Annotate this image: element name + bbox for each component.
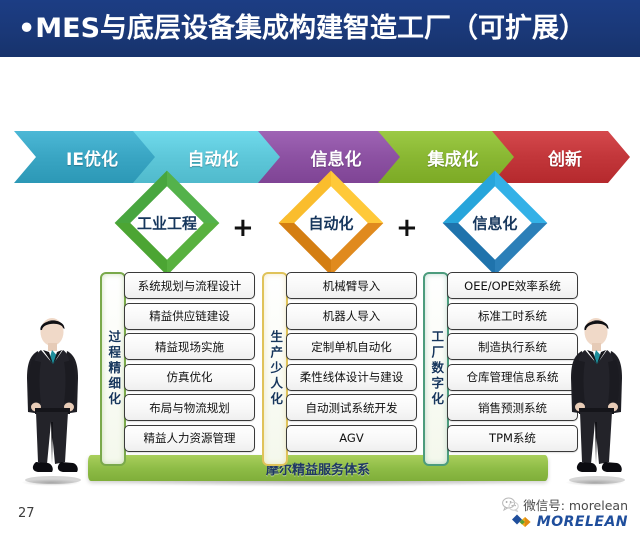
rail-factory-digitalization: 工厂数字化 [423, 272, 449, 466]
list-item[interactable]: 布局与物流规划 [124, 394, 255, 421]
page-title: •MES与底层设备集成构建智造工厂（可扩展） [18, 6, 586, 45]
businessman-right-illustration [552, 312, 638, 488]
chevron-label: 创新 [540, 145, 582, 170]
rail-label: 生产少人化 [269, 330, 282, 408]
list-item[interactable]: 机械臂导入 [286, 272, 417, 299]
chevron-label: 自动化 [180, 145, 239, 170]
brand-name-label: MORELEAN [537, 514, 628, 530]
person-shadow [565, 479, 625, 486]
rail-reduced-manpower: 生产少人化 [262, 272, 288, 466]
rail-label: 工厂数字化 [430, 330, 443, 408]
list-item[interactable]: 精益现场实施 [124, 333, 255, 360]
plus-sign-2: + [396, 215, 418, 241]
page-number: 27 [18, 506, 35, 521]
list-item[interactable]: 精益人力资源管理 [124, 425, 255, 452]
chevron-label: 信息化 [303, 145, 362, 170]
list-item[interactable]: OEE/OPE效率系统 [447, 272, 578, 299]
chevron-automation[interactable]: 自动化 [133, 131, 285, 183]
wechat-id-label: 微信号: morelean [523, 495, 628, 514]
pillar-label: 自动化 [272, 213, 390, 234]
footer-bar: 27 微信号: morelean MORELEAN [0, 492, 640, 535]
pillar-label: 信息化 [436, 213, 554, 234]
pillar-industrial-engineering[interactable]: 工业工程 [108, 186, 226, 260]
rail-process-refinement: 过程精细化 [100, 272, 126, 466]
list-item[interactable]: 仿真优化 [124, 364, 255, 391]
businessman-left-illustration [8, 312, 94, 488]
chevron-label: IE优化 [58, 145, 118, 170]
process-chevron-row: IE优化 自动化 信息化 集成化 创新 [0, 131, 640, 183]
morelean-logo-icon [511, 513, 533, 531]
businessman-figure-icon [552, 312, 638, 484]
wechat-icon [502, 497, 519, 512]
list-item[interactable]: 自动测试系统开发 [286, 394, 417, 421]
item-list: 系统规划与流程设计 精益供应链建设 精益现场实施 仿真优化 布局与物流规划 精益… [124, 272, 255, 462]
pillar-label: 工业工程 [108, 213, 226, 234]
list-item[interactable]: AGV [286, 425, 417, 452]
header-bar: •MES与底层设备集成构建智造工厂（可扩展） [0, 0, 640, 57]
chevron-label: 集成化 [420, 145, 479, 170]
pillar-informatization[interactable]: 信息化 [436, 186, 554, 260]
rail-label: 过程精细化 [107, 330, 120, 408]
pillar-automation[interactable]: 自动化 [272, 186, 390, 260]
list-item[interactable]: 机器人导入 [286, 303, 417, 330]
list-item[interactable]: 柔性线体设计与建设 [286, 364, 417, 391]
list-item[interactable]: 精益供应链建设 [124, 303, 255, 330]
list-item[interactable]: 系统规划与流程设计 [124, 272, 255, 299]
wechat-id-row: 微信号: morelean [502, 495, 628, 514]
column-reduced-manpower: 生产少人化 机械臂导入 机器人导入 定制单机自动化 柔性线体设计与建设 自动测试… [262, 272, 417, 462]
person-shadow [21, 479, 81, 486]
column-process-refinement: 过程精细化 系统规划与流程设计 精益供应链建设 精益现场实施 仿真优化 布局与物… [100, 272, 255, 462]
base-drop-shadow [96, 481, 540, 487]
list-item[interactable]: 定制单机自动化 [286, 333, 417, 360]
subtitle-block: 一个人管7个人的时代已经过去了，现在是 一个人管17个人甚至70个人的时代！ [0, 60, 640, 118]
slide-canvas: •MES与底层设备集成构建智造工厂（可扩展） 一个人管7个人的时代已经过去了，现… [0, 0, 640, 535]
item-list: 机械臂导入 机器人导入 定制单机自动化 柔性线体设计与建设 自动测试系统开发 A… [286, 272, 417, 462]
businessman-figure-icon [8, 312, 94, 484]
plus-sign-1: + [232, 215, 254, 241]
brand-logo-row: MORELEAN [511, 513, 628, 531]
